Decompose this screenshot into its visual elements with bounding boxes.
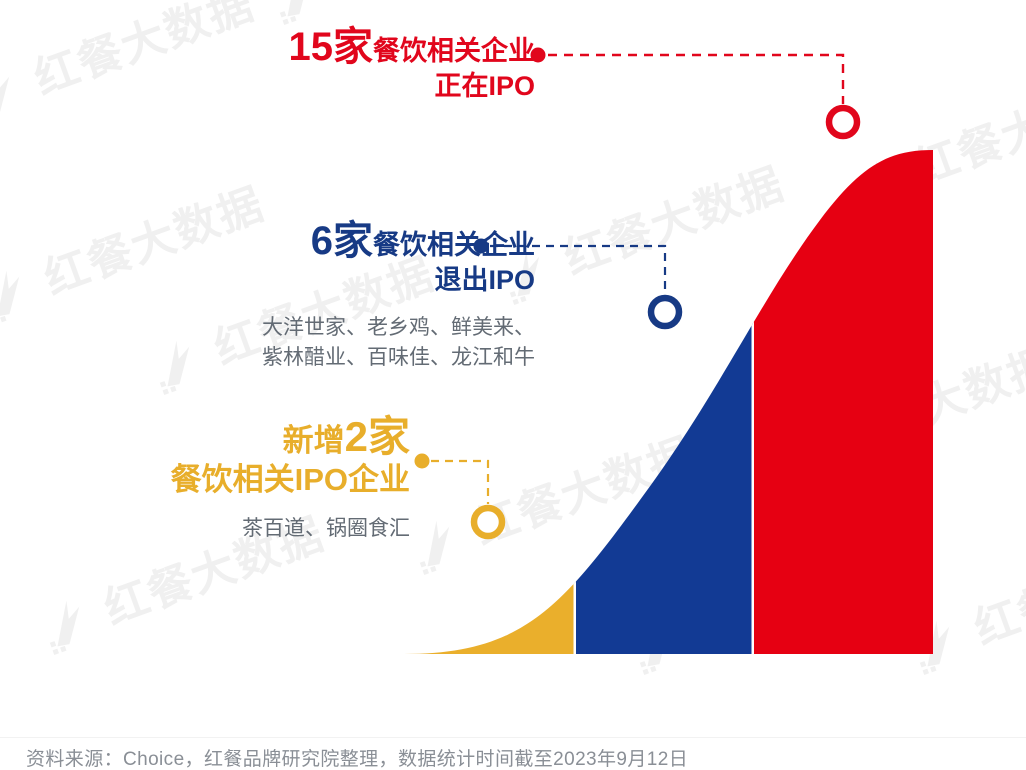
company-list-line-1: 大洋世家、老乡鸡、鲜美来、 — [135, 313, 535, 343]
orange-connector-line — [431, 461, 488, 504]
watermark-tile: 红餐大数据 — [760, 328, 1026, 490]
annotation-headline: 新增2家 — [110, 412, 410, 462]
infographic-page: 红餐大数据 红餐大数据 红餐大数据 红餐大数据 红餐大数据 — [0, 0, 1026, 770]
footer-divider — [0, 737, 1026, 738]
watermark-tile: 红餐大数据 — [840, 58, 1026, 220]
annotation-line2: 正在IPO — [434, 71, 535, 101]
arrow-logo-icon — [901, 603, 975, 677]
orange-connector-dot — [415, 454, 430, 469]
chart-segment-exit — [575, 140, 753, 655]
annotation-ipo-exit: 6家餐饮相关企业 退出IPO 大洋世家、老乡鸡、鲜美来、 紫林醋业、百味佳、龙江… — [135, 218, 535, 374]
annotation-company-list: 茶百道、锅圈食汇 — [110, 514, 410, 544]
chart-segment-active — [753, 140, 933, 655]
annotation-company-list: 大洋世家、老乡鸡、鲜美来、 紫林醋业、百味佳、龙江和牛 — [135, 313, 535, 374]
company-list-line-2: 紫林醋业、百味佳、龙江和牛 — [135, 343, 535, 373]
arrow-logo-icon — [841, 143, 915, 217]
arrow-logo-icon — [621, 603, 695, 677]
annotation-label: 餐饮相关企业 — [373, 230, 535, 260]
watermark-text: 红餐大数据 — [684, 518, 922, 657]
arrow-logo-icon — [31, 583, 105, 657]
watermark-text: 红餐大数据 — [464, 418, 702, 557]
watermark-layer: 红餐大数据 红餐大数据 红餐大数据 红餐大数据 红餐大数据 — [0, 0, 1026, 770]
annotation-headline-line2: 正在IPO — [155, 71, 535, 103]
annotation-ipo-new: 新增2家 餐饮相关IPO企业 茶百道、锅圈食汇 — [110, 412, 410, 545]
annotation-headline-line2: 退出IPO — [135, 265, 535, 297]
watermark-tile: 红餐大数据 — [400, 418, 702, 580]
annotation-number: 6家 — [311, 219, 373, 263]
annotation-prefix: 新增 — [283, 423, 345, 458]
annotation-label: 餐饮相关企业 — [373, 36, 535, 66]
annotation-headline: 6家餐饮相关企业 — [135, 218, 535, 265]
red-connector-line — [548, 55, 843, 104]
watermark-text: 红餐大数据 — [904, 58, 1026, 197]
watermark-text: 红餐大数据 — [554, 148, 792, 287]
annotation-line2: 退出IPO — [434, 265, 535, 295]
annotation-headline-line2: 餐饮相关IPO企业 — [110, 462, 410, 499]
annotation-headline: 15家餐饮相关企业 — [155, 24, 535, 71]
watermark-tile: 红餐大数据 — [490, 148, 792, 310]
watermark-tile: 红餐大数据 — [620, 518, 922, 680]
watermark-text: 红餐大数据 — [324, 0, 562, 7]
annotation-number: 15家 — [289, 25, 374, 69]
blue-circle-marker — [651, 298, 679, 326]
orange-circle-marker — [474, 508, 502, 536]
source-note: 资料来源：Choice，红餐品牌研究院整理，数据统计时间截至2023年9月12日 — [26, 744, 688, 770]
red-circle-marker — [829, 108, 857, 136]
arrow-logo-icon — [401, 503, 475, 577]
annotation-number: 2家 — [345, 413, 410, 460]
watermark-text: 红餐大数据 — [964, 518, 1026, 657]
arrow-logo-icon — [0, 253, 45, 327]
connector-layer — [0, 0, 1026, 770]
annotation-ipo-active: 15家餐饮相关企业 正在IPO — [155, 24, 535, 103]
watermark-text: 红餐大数据 — [824, 328, 1026, 467]
annotation-line2: 餐饮相关IPO企业 — [171, 462, 410, 497]
arrow-logo-icon — [0, 53, 35, 127]
watermark-tile: 红餐大数据 — [900, 518, 1026, 680]
company-list-line-1: 茶百道、锅圈食汇 — [110, 514, 410, 544]
arrow-logo-icon — [761, 413, 835, 487]
